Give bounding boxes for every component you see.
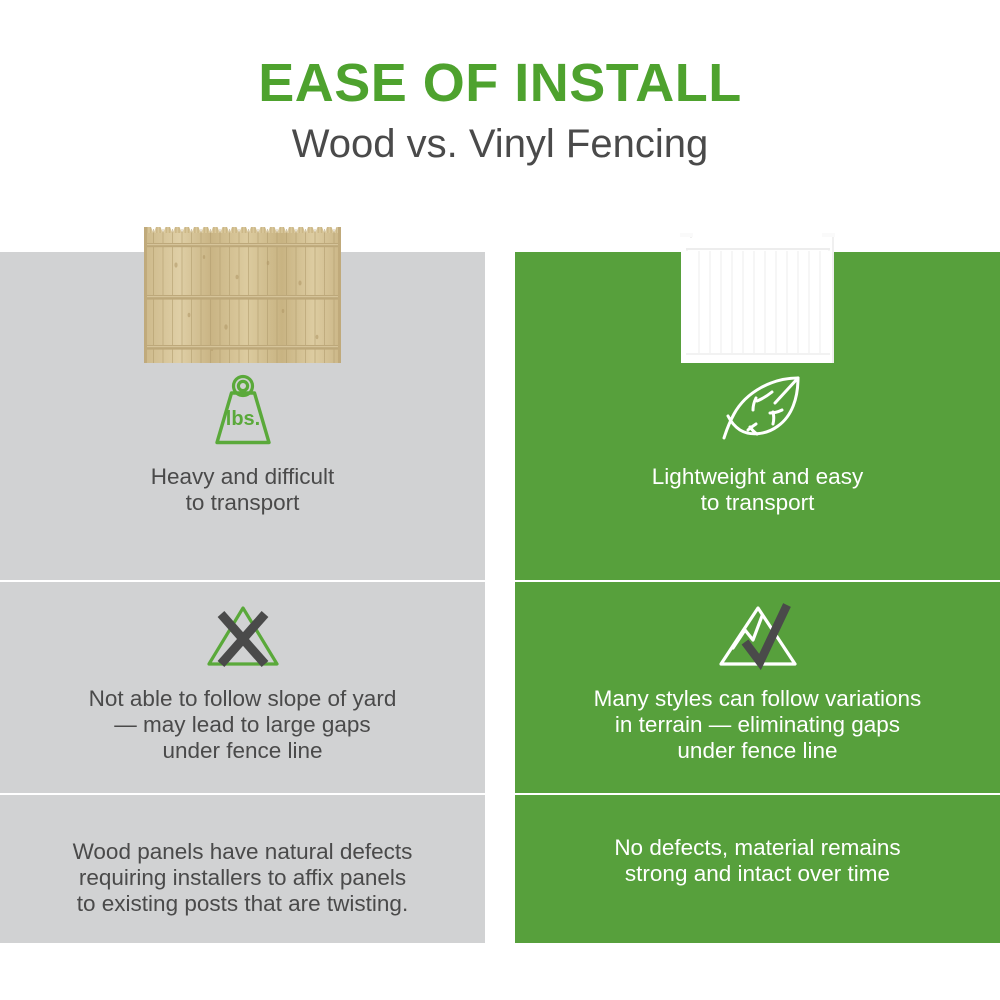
- caption-line: to existing posts that are twisting.: [73, 891, 413, 917]
- wood-weight-caption: Heavy and difficult to transport: [133, 464, 352, 516]
- vinyl-fence-image-wrap: [515, 190, 1000, 365]
- caption-line: to transport: [652, 490, 863, 516]
- vinyl-defects-panel: No defects, material remains strong and …: [515, 795, 1000, 943]
- wood-defects-panel: Wood panels have natural defects requiri…: [0, 795, 485, 943]
- triangle-x-icon: [204, 603, 282, 669]
- vinyl-weight-caption: Lightweight and easy to transport: [634, 464, 881, 516]
- mountain-check-icon: [715, 602, 801, 670]
- caption-line: — may lead to large gaps: [89, 712, 397, 738]
- infographic-header: EASE OF INSTALL Wood vs. Vinyl Fencing: [0, 0, 1000, 164]
- wood-slope-caption: Not able to follow slope of yard — may l…: [71, 686, 415, 764]
- caption-line: under fence line: [89, 738, 397, 764]
- vinyl-slope-panel: Many styles can follow variations in ter…: [515, 582, 1000, 793]
- wood-defects-caption: Wood panels have natural defects requiri…: [55, 839, 431, 917]
- column-wood: lbs. Heavy and difficult to transport No…: [0, 190, 485, 945]
- vinyl-slope-icon-cell: [715, 600, 801, 672]
- vinyl-defects-caption: No defects, material remains strong and …: [596, 835, 918, 887]
- column-vinyl: Lightweight and easy to transport Many s…: [515, 190, 1000, 945]
- caption-line: requiring installers to affix panels: [73, 865, 413, 891]
- vinyl-privacy-fence-image: [666, 213, 850, 365]
- feather-icon: [712, 372, 804, 448]
- wood-privacy-fence-image: [142, 219, 343, 365]
- caption-line: Not able to follow slope of yard: [89, 686, 397, 712]
- wood-slope-icon-cell: [204, 600, 282, 672]
- wood-fence-image-wrap: [0, 190, 485, 365]
- comparison-board: lbs. Heavy and difficult to transport No…: [0, 190, 1000, 945]
- caption-line: Wood panels have natural defects: [73, 839, 413, 865]
- wood-weight-icon-cell: lbs.: [207, 370, 279, 450]
- caption-line: No defects, material remains: [614, 835, 900, 861]
- vinyl-slope-caption: Many styles can follow variations in ter…: [576, 686, 940, 764]
- caption-line: Lightweight and easy: [652, 464, 863, 490]
- weight-lbs-icon: lbs.: [207, 373, 279, 447]
- caption-line: Heavy and difficult: [151, 464, 334, 490]
- page-title: EASE OF INSTALL: [0, 56, 1000, 110]
- caption-line: strong and intact over time: [614, 861, 900, 887]
- caption-line: under fence line: [594, 738, 922, 764]
- weight-icon-label: lbs.: [225, 408, 259, 430]
- caption-line: Many styles can follow variations: [594, 686, 922, 712]
- vinyl-feather-icon-cell: [712, 370, 804, 450]
- page-subtitle: Wood vs. Vinyl Fencing: [0, 124, 1000, 164]
- caption-line: to transport: [151, 490, 334, 516]
- caption-line: in terrain — eliminating gaps: [594, 712, 922, 738]
- wood-slope-panel: Not able to follow slope of yard — may l…: [0, 582, 485, 793]
